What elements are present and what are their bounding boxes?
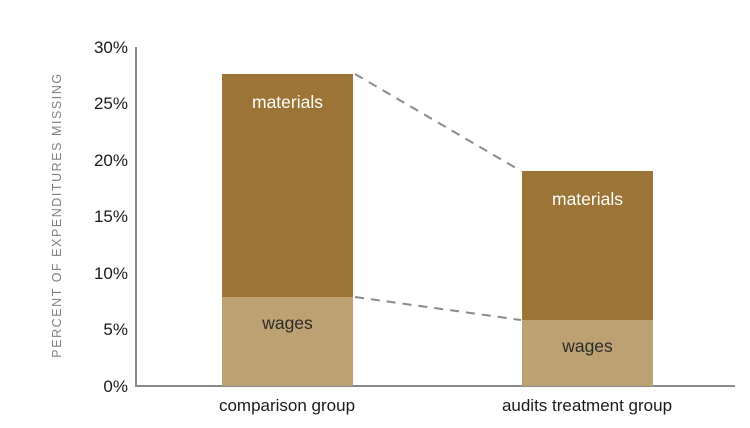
bar-segment-materials-audits-treatment-group: materials <box>522 171 653 320</box>
y-tick-label: 0% <box>8 377 128 397</box>
bar-segment-label-wages: wages <box>522 336 653 357</box>
wages-connector-line <box>355 297 521 320</box>
bar-segment-label-materials: materials <box>222 92 353 113</box>
chart-container: PERCENT OF EXPENDITURES MISSING 30% 25% … <box>0 0 750 428</box>
bar-segment-materials-comparison-group: materials <box>222 74 353 297</box>
y-axis-tick-labels: 30% 25% 20% 15% 10% 5% 0% <box>0 0 128 428</box>
y-tick-label: 15% <box>8 207 128 227</box>
top-connector-line <box>355 74 521 171</box>
x-tick-label-comparison-group: comparison group <box>187 396 387 416</box>
y-tick-label: 25% <box>8 94 128 114</box>
y-tick-label: 30% <box>8 38 128 58</box>
y-tick-label: 5% <box>8 320 128 340</box>
bar-segment-wages-comparison-group: wages <box>222 297 353 386</box>
y-tick-label: 10% <box>8 264 128 284</box>
bar-segment-label-materials: materials <box>522 189 653 210</box>
y-axis-line <box>135 47 137 387</box>
bar-segment-label-wages: wages <box>222 313 353 334</box>
x-tick-label-audits-treatment-group: audits treatment group <box>457 396 717 416</box>
y-tick-label: 20% <box>8 151 128 171</box>
bar-segment-wages-audits-treatment-group: wages <box>522 320 653 386</box>
